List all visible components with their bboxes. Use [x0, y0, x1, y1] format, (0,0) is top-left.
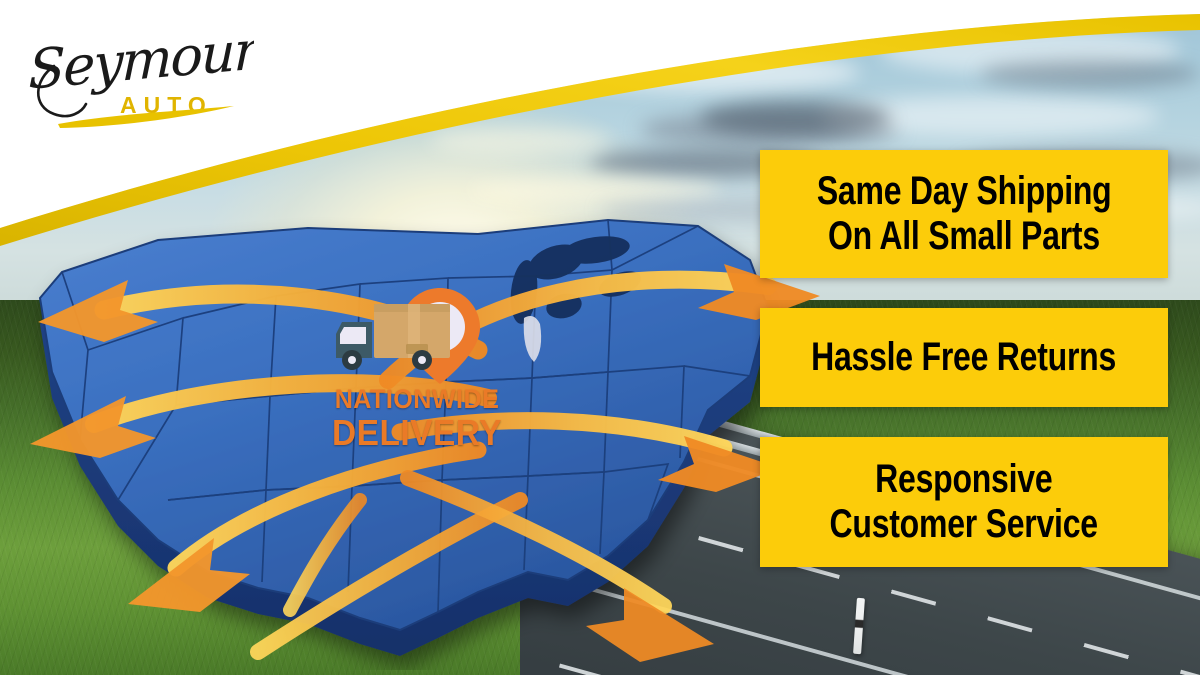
feature-panel-responsive-customer-service[interactable]: Responsive Customer Service	[760, 437, 1168, 567]
panel-1-line-2: On All Small Parts	[828, 214, 1100, 259]
panel-3-line-2: Customer Service	[830, 502, 1098, 547]
panel-3-line-1: Responsive	[875, 457, 1052, 502]
promotional-banner: Seymour AUTO	[0, 0, 1200, 675]
feature-panel-hassle-free-returns[interactable]: Hassle Free Returns	[760, 308, 1168, 407]
feature-panel-same-day-shipping[interactable]: Same Day Shipping On All Small Parts	[760, 150, 1168, 278]
badge-line-nationwide: NATIONWIDE	[329, 386, 506, 413]
panel-2-line-1: Hassle Free Returns	[812, 335, 1117, 380]
seymour-auto-logo[interactable]: Seymour AUTO	[24, 14, 254, 132]
nationwide-delivery-badge: NATIONWIDE DELIVERY	[322, 282, 512, 452]
badge-line-delivery: DELIVERY	[329, 415, 506, 451]
panel-1-line-1: Same Day Shipping	[817, 169, 1112, 214]
logo-script-text: Seymour	[28, 18, 254, 102]
